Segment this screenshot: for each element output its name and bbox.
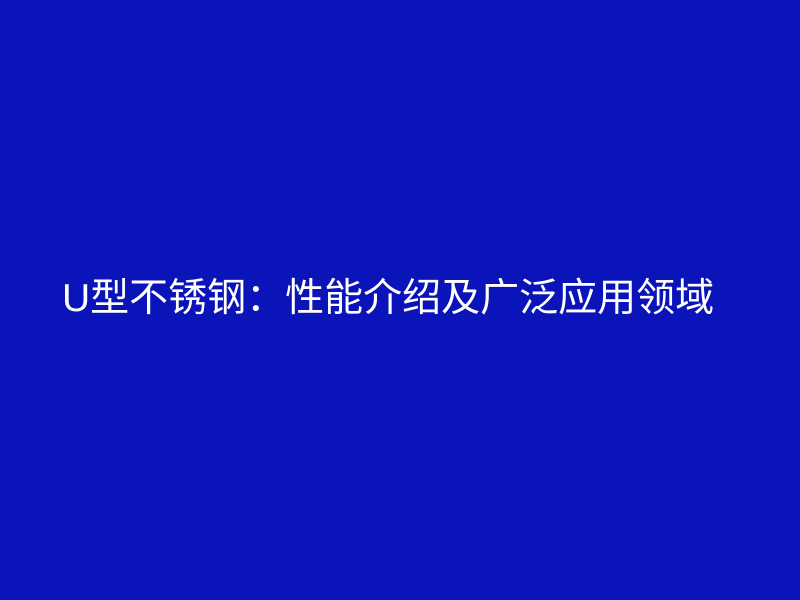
slide-title: U型不锈钢：性能介绍及广泛应用领域 — [62, 275, 760, 323]
title-slide: U型不锈钢：性能介绍及广泛应用领域 — [0, 0, 800, 600]
title-block: U型不锈钢：性能介绍及广泛应用领域 — [62, 275, 760, 323]
slide-top-spacer — [0, 0, 800, 275]
